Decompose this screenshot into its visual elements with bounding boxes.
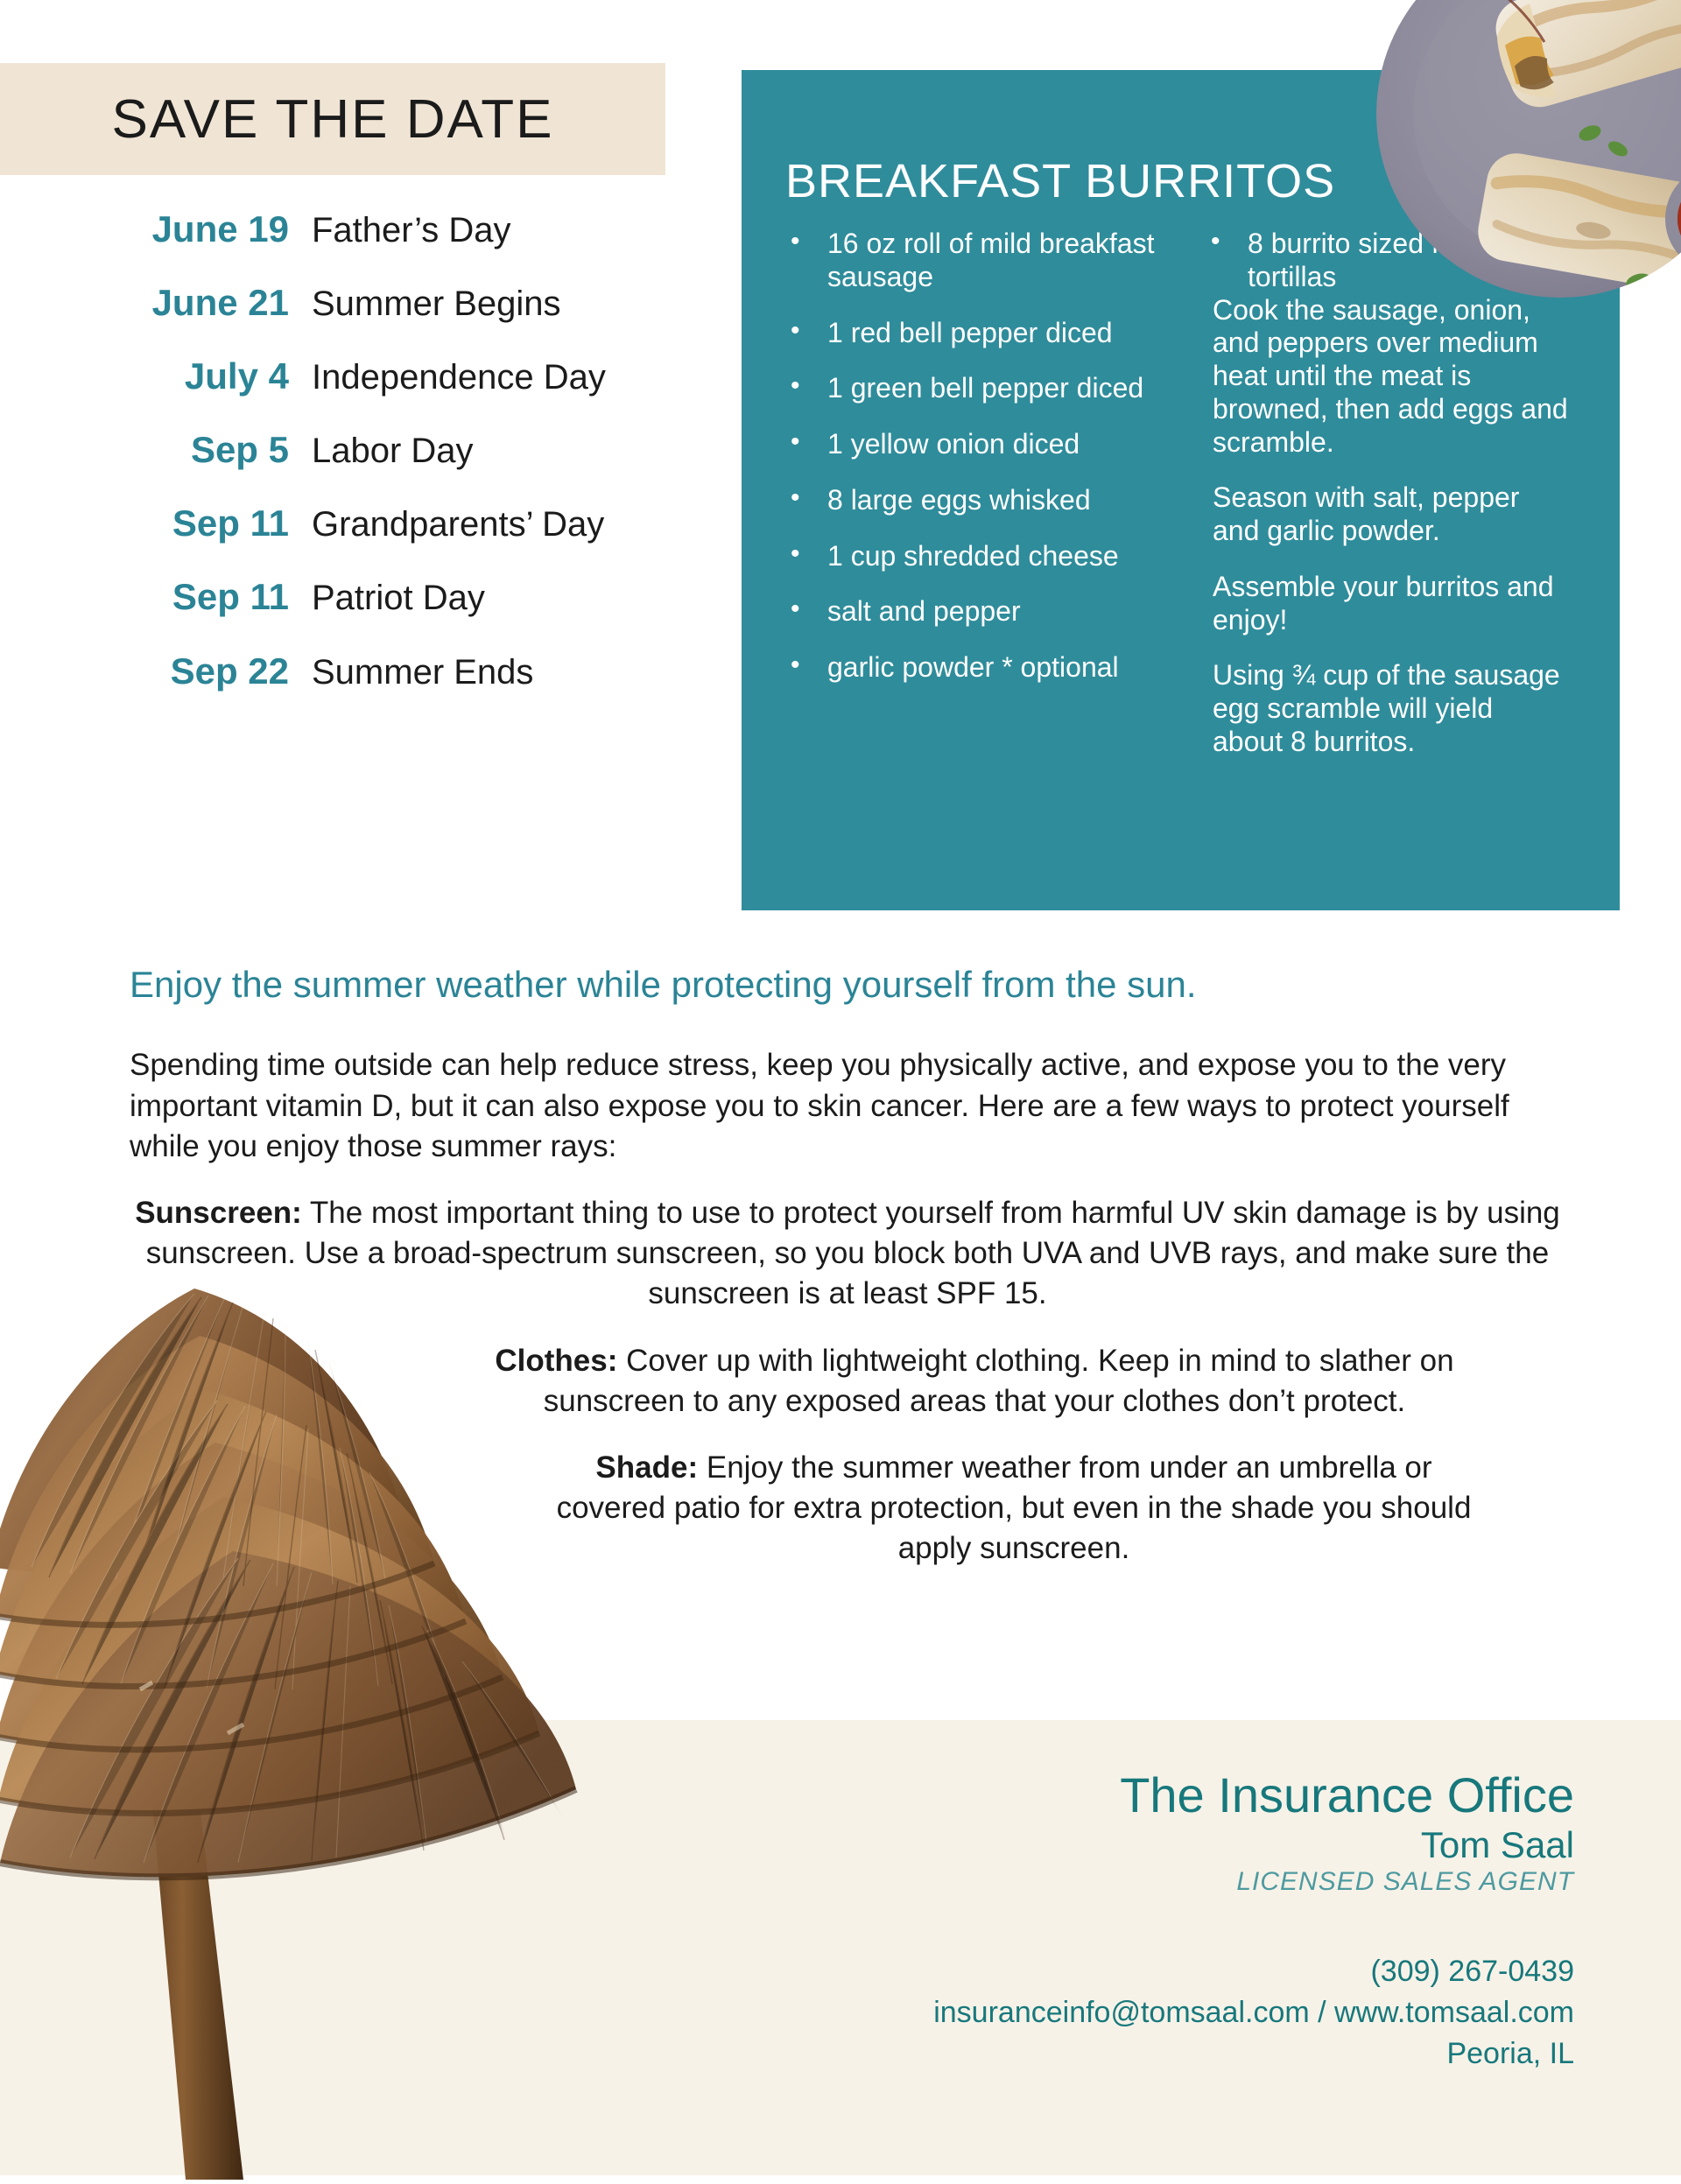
sun-protection-article: Enjoy the summer weather while protectin… [130,963,1565,1595]
date-key: Sep 5 [0,431,312,469]
email-and-website[interactable]: insuranceinfo@tomsaal.com / www.tomsaal.… [933,1992,1574,2033]
list-item: 8 large eggs whisked [827,484,1162,517]
shade-label: Shade: [595,1450,698,1485]
location: Peoria, IL [933,2033,1574,2075]
date-row: Sep 5 Labor Day [0,431,700,469]
date-row: June 21 Summer Begins [0,284,700,322]
article-intro: Spending time outside can help reduce st… [130,1045,1565,1167]
agent-name: Tom Saal [933,1823,1574,1867]
footer-contact-block: The Insurance Office Tom Saal LICENSED S… [933,1768,1574,2075]
clothes-label: Clothes: [495,1344,617,1378]
list-item: 1 green bell pepper diced [827,372,1162,405]
date-row: July 4 Independence Day [0,357,700,396]
save-the-date-title: SAVE THE DATE [0,63,665,175]
agent-role: LICENSED SALES AGENT [933,1867,1574,1897]
date-row: Sep 22 Summer Ends [0,652,700,691]
date-row: Sep 11 Grandparents’ Day [0,504,700,543]
contact-details: (309) 267-0439 insuranceinfo@tomsaal.com… [933,1951,1574,2075]
date-event: Patriot Day [312,579,485,616]
sunscreen-body: The most important thing to use to prote… [146,1196,1560,1310]
clothes-body: Cover up with lightweight clothing. Keep… [544,1344,1454,1418]
list-item: 16 oz roll of mild breakfast sausage [827,228,1162,294]
date-event: Labor Day [312,432,474,469]
phone-number[interactable]: (309) 267-0439 [933,1951,1574,1992]
date-row: Sep 11 Patriot Day [0,578,700,616]
date-event: Summer Ends [312,654,533,691]
ingredients-list: 16 oz roll of mild breakfast sausage 1 r… [766,228,1188,685]
sunscreen-label: Sunscreen: [135,1196,302,1230]
article-sunscreen: Sunscreen: The most important thing to u… [130,1193,1565,1315]
list-item: 1 cup shredded cheese [827,540,1162,573]
recipe-title: BREAKFAST BURRITOS [785,154,1335,208]
recipe-columns: 16 oz roll of mild breakfast sausage 1 r… [742,228,1620,782]
recipe-step: Assemble your burritos and enjoy! [1213,571,1568,637]
ingredients-column: 16 oz roll of mild breakfast sausage 1 r… [742,228,1188,782]
date-row: June 19 Father’s Day [0,210,700,249]
date-event: Grandparents’ Day [312,506,604,543]
list-item: 1 red bell pepper diced [827,317,1162,350]
date-key: June 19 [0,210,312,249]
date-event: Father’s Day [312,212,511,249]
list-item: 1 yellow onion diced [827,428,1162,461]
instructions-column: 8 burrito sized flour tortillas Cook the… [1188,228,1608,782]
recipe-step: Using ¾ cup of the sausage egg scramble … [1213,659,1568,758]
date-key: Sep 11 [0,578,312,616]
list-item: garlic powder * optional [827,651,1162,685]
date-key: Sep 22 [0,652,312,691]
date-key: July 4 [0,357,312,396]
article-clothes: Clothes: Cover up with lightweight cloth… [130,1341,1565,1422]
recipe-step: Season with salt, pepper and garlic powd… [1213,481,1568,548]
date-event: Independence Day [312,359,606,396]
date-key: June 21 [0,284,312,322]
save-the-date-list: June 19 Father’s Day June 21 Summer Begi… [0,210,700,726]
article-heading: Enjoy the summer weather while protectin… [130,963,1565,1007]
list-item: salt and pepper [827,595,1162,629]
article-shade: Shade: Enjoy the summer weather from und… [130,1448,1565,1570]
recipe-step: Cook the sausage, onion, and peppers ove… [1213,294,1568,460]
company-name: The Insurance Office [933,1768,1574,1823]
date-event: Summer Begins [312,285,561,322]
date-key: Sep 11 [0,504,312,543]
recipe-steps: Cook the sausage, onion, and peppers ove… [1188,294,1573,759]
